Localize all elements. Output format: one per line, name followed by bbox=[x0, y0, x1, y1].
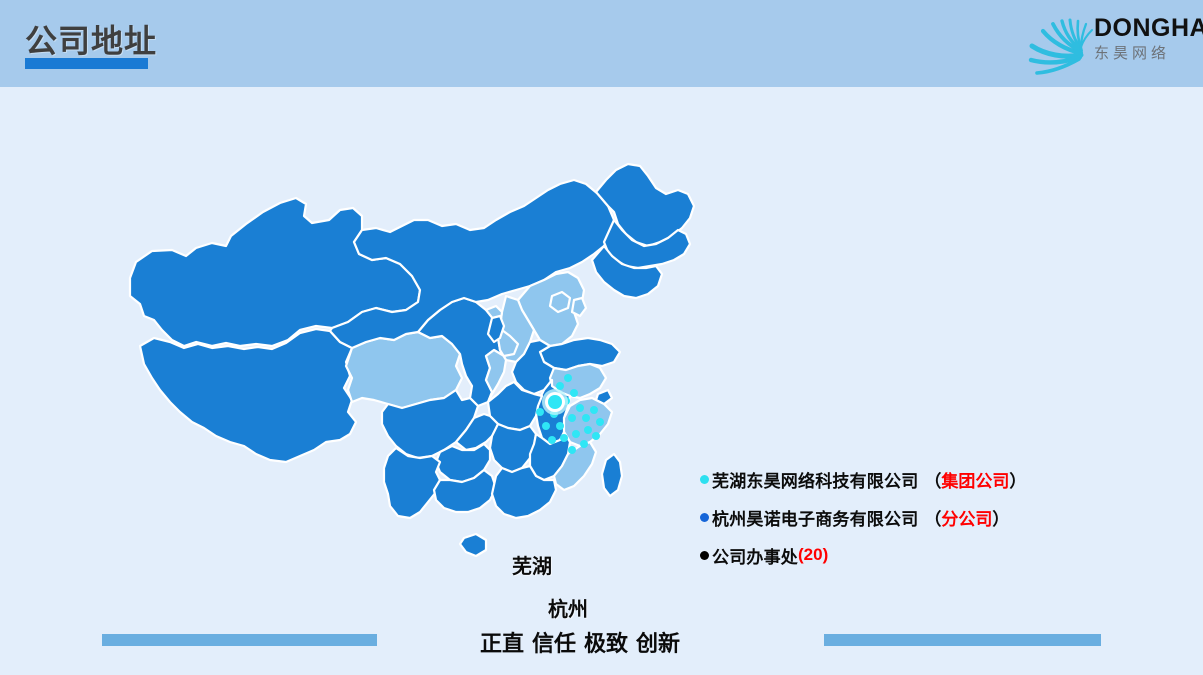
title-underline-bar bbox=[25, 58, 148, 69]
legend-tag-text: 集团公司 bbox=[941, 472, 1009, 491]
legend: 芜湖东昊网络科技有限公司 （集团公司） 杭州昊诺电子商务有限公司 （分公司） 公… bbox=[700, 460, 1120, 574]
office-marker bbox=[596, 418, 604, 426]
office-marker bbox=[542, 422, 550, 430]
office-marker bbox=[570, 389, 578, 397]
slogan-word-3: 极致 bbox=[584, 631, 628, 656]
office-marker bbox=[536, 408, 544, 416]
office-marker bbox=[548, 436, 556, 444]
province-zhejiang bbox=[564, 398, 612, 446]
paren-close: ） bbox=[992, 510, 1009, 529]
wing-feather-icon bbox=[1018, 6, 1098, 78]
company-logo: DONGHAO 东昊网络 bbox=[1018, 6, 1193, 78]
legend-bullet-blue bbox=[700, 513, 709, 522]
province-beijing bbox=[550, 292, 570, 312]
province-hainan bbox=[460, 534, 486, 556]
legend-item-group-company[interactable]: 芜湖东昊网络科技有限公司 （集团公司） bbox=[700, 460, 1120, 498]
office-marker bbox=[572, 430, 580, 438]
office-marker bbox=[560, 434, 568, 442]
legend-bullet-cyan bbox=[700, 475, 709, 484]
office-marker bbox=[576, 404, 584, 412]
province-taiwan bbox=[602, 454, 622, 496]
footer-slogan: 正直信任极致创新 bbox=[455, 626, 705, 658]
province-tibet bbox=[140, 329, 356, 462]
office-marker bbox=[568, 446, 576, 454]
office-marker bbox=[568, 414, 576, 422]
slogan-word-1: 正直 bbox=[480, 631, 524, 656]
office-marker bbox=[580, 440, 588, 448]
slide-header: 公司地址 bbox=[0, 0, 1203, 87]
province-yunnan bbox=[384, 448, 440, 518]
legend-office-count: (20) bbox=[798, 545, 828, 565]
slogan-word-4: 创新 bbox=[636, 631, 680, 656]
office-marker bbox=[592, 432, 600, 440]
legend-item-branch-company[interactable]: 杭州昊诺电子商务有限公司 （分公司） bbox=[700, 498, 1120, 536]
legend-tag-branch-company: （分公司） bbox=[924, 505, 1009, 530]
paren-close: ） bbox=[1009, 472, 1026, 491]
logo-name: DONGHAO bbox=[1094, 16, 1194, 41]
office-marker bbox=[564, 374, 572, 382]
legend-label-group-company: 芜湖东昊网络科技有限公司 bbox=[712, 467, 918, 492]
office-marker bbox=[556, 422, 564, 430]
legend-label-branch-company: 杭州昊诺电子商务有限公司 bbox=[712, 505, 918, 530]
slide-canvas: 公司地址 bbox=[0, 0, 1203, 675]
paren-open: （ bbox=[924, 510, 941, 529]
china-map[interactable]: 芜湖 杭州 bbox=[100, 150, 720, 610]
office-marker bbox=[590, 406, 598, 414]
office-marker bbox=[556, 382, 564, 390]
province-tianjin bbox=[572, 298, 586, 316]
legend-tag-group-company: （集团公司） bbox=[924, 467, 1026, 492]
paren-open: （ bbox=[924, 472, 941, 491]
footer-bar-right bbox=[824, 634, 1101, 646]
legend-tag-text: 分公司 bbox=[941, 510, 992, 529]
office-marker bbox=[584, 426, 592, 434]
office-marker bbox=[582, 414, 590, 422]
footer-bar-left bbox=[102, 634, 377, 646]
page-title: 公司地址 bbox=[25, 16, 157, 62]
china-map-svg bbox=[100, 150, 720, 610]
legend-bullet-black bbox=[700, 551, 709, 560]
legend-item-offices[interactable]: 公司办事处 (20) bbox=[700, 536, 1120, 574]
city-label-hangzhou: 杭州 bbox=[548, 593, 588, 622]
city-label-wuhu: 芜湖 bbox=[512, 550, 552, 579]
legend-label-offices: 公司办事处 bbox=[712, 543, 798, 568]
logo-text-block: DONGHAO 东昊网络 bbox=[1094, 16, 1194, 61]
slogan-word-2: 信任 bbox=[532, 631, 576, 656]
headquarters-marker bbox=[542, 389, 568, 415]
logo-subtitle: 东昊网络 bbox=[1094, 46, 1194, 61]
